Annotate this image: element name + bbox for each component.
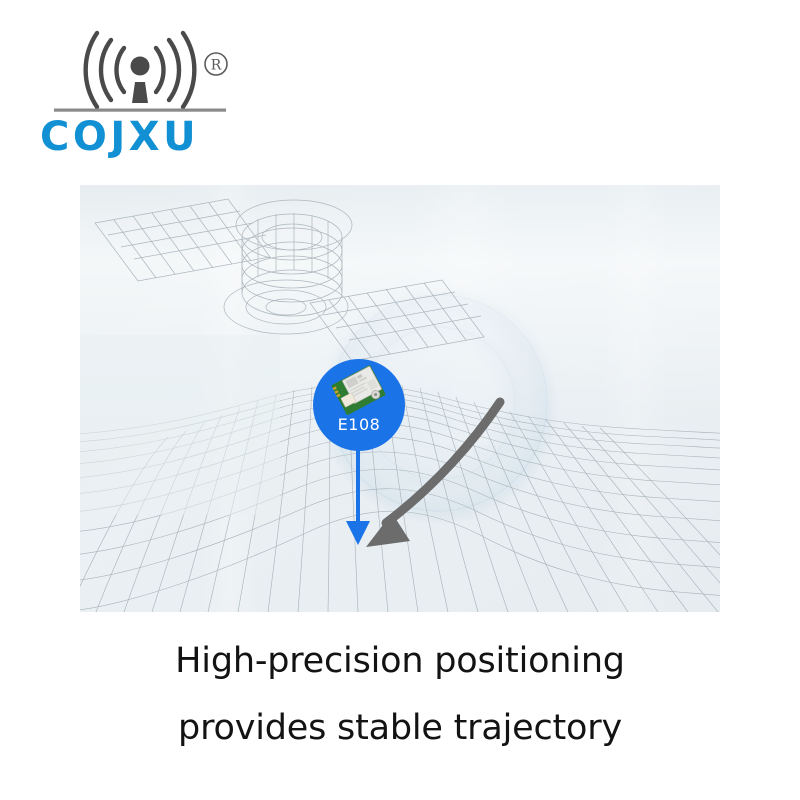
brand-logo: R COJXU [40,24,240,164]
svg-text:R: R [211,58,222,74]
caption-line-2: provides stable trajectory [0,695,800,762]
brand-wordmark: COJXU [40,110,240,164]
gnss-pcb-module-icon [329,365,389,417]
device-badge[interactable]: E108 [313,359,405,451]
caption-text: High-precision positioning provides stab… [0,628,800,762]
registered-trademark-icon: R [203,51,229,77]
device-badge-label: E108 [313,415,405,434]
caption-line-1: High-precision positioning [0,628,800,695]
